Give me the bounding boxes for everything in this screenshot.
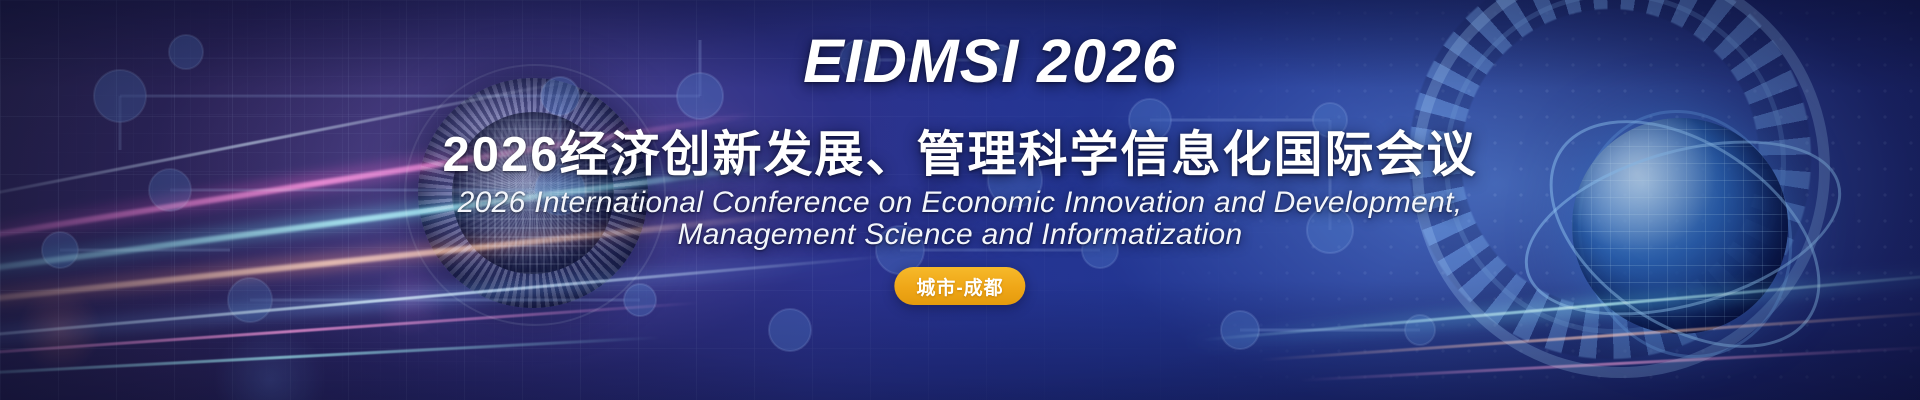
city-badge[interactable]: 城市-成都 <box>894 267 1025 305</box>
conference-english-title-line2: Management Science and Informatization <box>0 218 1920 252</box>
conference-banner: EIDMSI 2026 2026经济创新发展、管理科学信息化国际会议 2026 … <box>0 0 1920 400</box>
conference-english-title-line1: 2026 International Conference on Economi… <box>0 186 1920 220</box>
banner-content: EIDMSI 2026 2026经济创新发展、管理科学信息化国际会议 2026 … <box>0 0 1920 400</box>
conference-acronym-title: EIDMSI 2026 <box>0 26 1920 96</box>
conference-chinese-title: 2026经济创新发展、管理科学信息化国际会议 <box>0 115 1920 186</box>
